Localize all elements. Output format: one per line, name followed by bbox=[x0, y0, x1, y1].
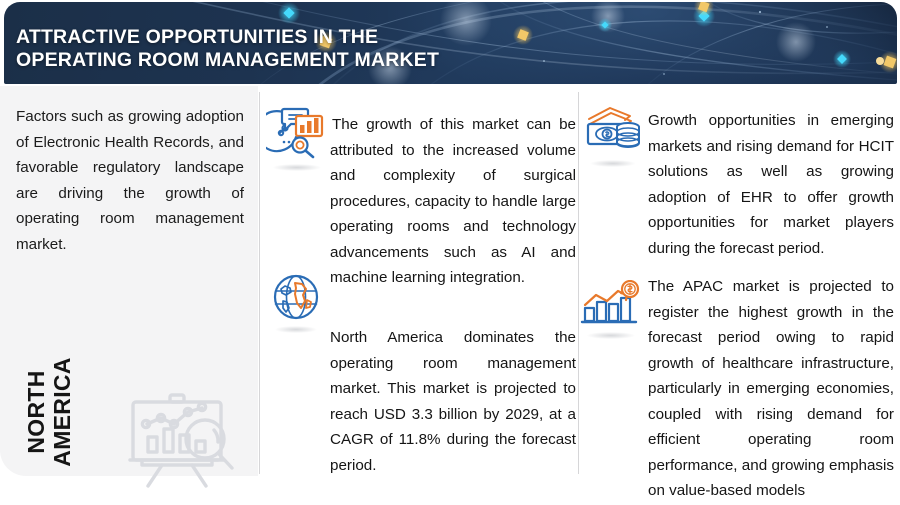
column-divider-right bbox=[578, 92, 579, 474]
left-panel: Factors such as growing adoption of Elec… bbox=[0, 86, 258, 476]
icon-shadow bbox=[273, 164, 321, 171]
right-paragraph-1: Growth opportunities in emerging markets… bbox=[648, 108, 894, 261]
icon-shadow bbox=[590, 160, 635, 167]
revenue-growth-chart-icon bbox=[580, 280, 642, 330]
presentation-chart-magnifier-icon bbox=[122, 391, 246, 495]
globe-icon bbox=[269, 272, 323, 324]
right-paragraph-2: The APAC market is projected to register… bbox=[648, 274, 894, 504]
column-divider-left bbox=[259, 92, 260, 474]
infographic-canvas: ATTRACTIVE OPPORTUNITIES IN THE OPERATIN… bbox=[0, 0, 900, 505]
middle-paragraph-2: North America dominates the operating ro… bbox=[330, 325, 576, 478]
left-panel-paragraph: Factors such as growing adoption of Elec… bbox=[16, 104, 244, 257]
page-title: ATTRACTIVE OPPORTUNITIES IN THE OPERATIN… bbox=[16, 26, 576, 72]
header-banner: ATTRACTIVE OPPORTUNITIES IN THE OPERATIN… bbox=[4, 2, 897, 84]
middle-paragraph-1: The growth of this market can be attribu… bbox=[330, 112, 576, 291]
icon-shadow bbox=[587, 332, 635, 339]
icon-shadow bbox=[275, 326, 317, 333]
money-cash-coins-icon bbox=[584, 104, 642, 158]
market-research-analysis-icon bbox=[266, 104, 328, 162]
region-label-north-america: NORTH AMERICA bbox=[23, 342, 75, 482]
